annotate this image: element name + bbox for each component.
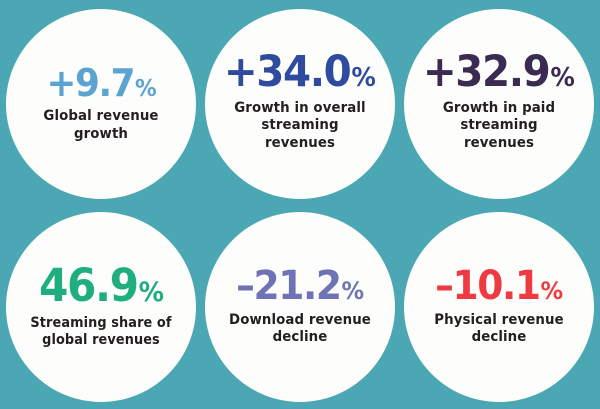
stat-number: –21.2 [236, 267, 341, 305]
stat-bubble: +9.7% Global revenue growth [6, 9, 196, 199]
stat-bubble: –10.1% Physical revenue decline [404, 212, 594, 402]
stat-bubble-grid: +9.7% Global revenue growth +34.0% Growt… [0, 0, 600, 409]
stat-label: Global revenue growth [27, 108, 176, 143]
stat-bubble: 46.9% Streaming share of global revenues [6, 212, 196, 402]
stat-cell-physical-decline: –10.1% Physical revenue decline [403, 211, 594, 404]
stat-number: 46.9 [39, 265, 138, 308]
percent-sign: % [540, 280, 562, 303]
percent-sign: % [135, 79, 156, 101]
stat-value: –10.1% [435, 267, 563, 305]
infographic-canvas: +9.7% Global revenue growth +34.0% Growt… [0, 0, 600, 409]
stat-number: –10.1 [435, 267, 540, 305]
stat-cell-overall-streaming-growth: +34.0% Growth in overall streaming reven… [205, 8, 396, 201]
stat-value: –21.2% [236, 267, 364, 305]
percent-sign: % [352, 66, 376, 91]
stat-number: +9.7 [46, 65, 134, 101]
stat-label: Streaming share of global revenues [27, 315, 176, 349]
stat-value: +9.7% [46, 65, 156, 101]
stat-value: 46.9% [39, 265, 164, 308]
stat-cell-global-revenue-growth: +9.7% Global revenue growth [6, 8, 197, 201]
stat-number: +34.0 [224, 52, 351, 93]
stat-bubble: +34.0% Growth in overall streaming reven… [205, 9, 395, 199]
stat-number: +32.9 [423, 52, 550, 93]
stat-cell-download-decline: –21.2% Download revenue decline [205, 211, 396, 404]
stat-bubble: +32.9% Growth in paid streaming revenues [404, 9, 594, 199]
stat-bubble: –21.2% Download revenue decline [205, 212, 395, 402]
stat-label: Growth in paid streaming revenues [424, 100, 573, 153]
stat-label: Physical revenue decline [424, 312, 573, 347]
percent-sign: % [139, 280, 164, 306]
percent-sign: % [342, 280, 364, 303]
stat-cell-streaming-share: 46.9% Streaming share of global revenues [6, 211, 197, 404]
stat-label: Download revenue decline [225, 312, 374, 347]
percent-sign: % [550, 66, 574, 91]
stat-value: +32.9% [423, 52, 575, 93]
stat-cell-paid-streaming-growth: +32.9% Growth in paid streaming revenues [403, 8, 594, 201]
stat-label: Growth in overall streaming revenues [225, 100, 374, 153]
stat-value: +34.0% [224, 52, 376, 93]
